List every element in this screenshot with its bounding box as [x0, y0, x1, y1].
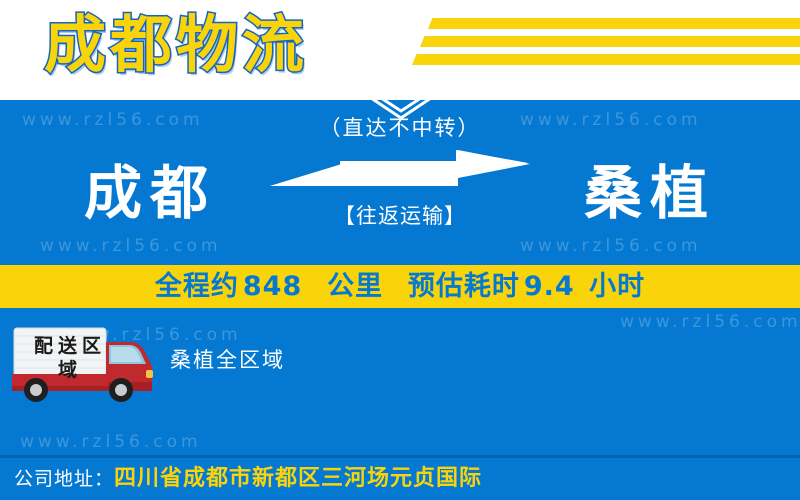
stripe-3 — [412, 54, 800, 65]
address-bar: 公司地址：四川省成都市新都区三河场元贞国际 — [0, 458, 800, 500]
bidirectional-arrow-icon — [270, 150, 530, 198]
distance-unit: 公里 — [327, 271, 383, 302]
route-row: 成都 （直达不中转） 【往返运输】 桑植 — [0, 150, 800, 260]
duration-value: 9.4 — [524, 271, 575, 302]
duration-unit: 小时 — [589, 271, 645, 302]
truck-box-text: 配送区域 — [30, 334, 110, 382]
distance-label: 全程约 — [155, 271, 239, 302]
coverage-label: 桑植全区域 — [170, 344, 285, 374]
address-label: 公司地址： — [14, 468, 114, 490]
duration-label: 预估耗时 — [408, 271, 520, 302]
brand-title: 成都物流 — [44, 2, 308, 88]
stripe-1 — [428, 18, 800, 29]
logistics-poster: 成都物流 www.rzl56.com www.rzl56.com www.rzl… — [0, 0, 800, 500]
delivery-truck-icon: 配送区域 — [8, 326, 156, 402]
address-value: 四川省成都市新都区三河场元贞国际 — [114, 466, 482, 491]
info-band: 全程约848 公里 预估耗时9.4 小时 — [0, 265, 800, 308]
address-inner: 公司地址：四川省成都市新都区三河场元贞国际 — [14, 458, 482, 500]
info-text: 全程约848 公里 预估耗时9.4 小时 — [0, 265, 800, 308]
watermark: www.rzl56.com — [20, 432, 202, 452]
distance-value: 848 — [243, 271, 302, 302]
stripe-2 — [420, 36, 800, 47]
destination-city: 桑植 — [500, 150, 800, 236]
coverage-row: 配送区域 桑植全区域 — [0, 326, 800, 406]
poster-header: 成都物流 — [0, 0, 800, 97]
